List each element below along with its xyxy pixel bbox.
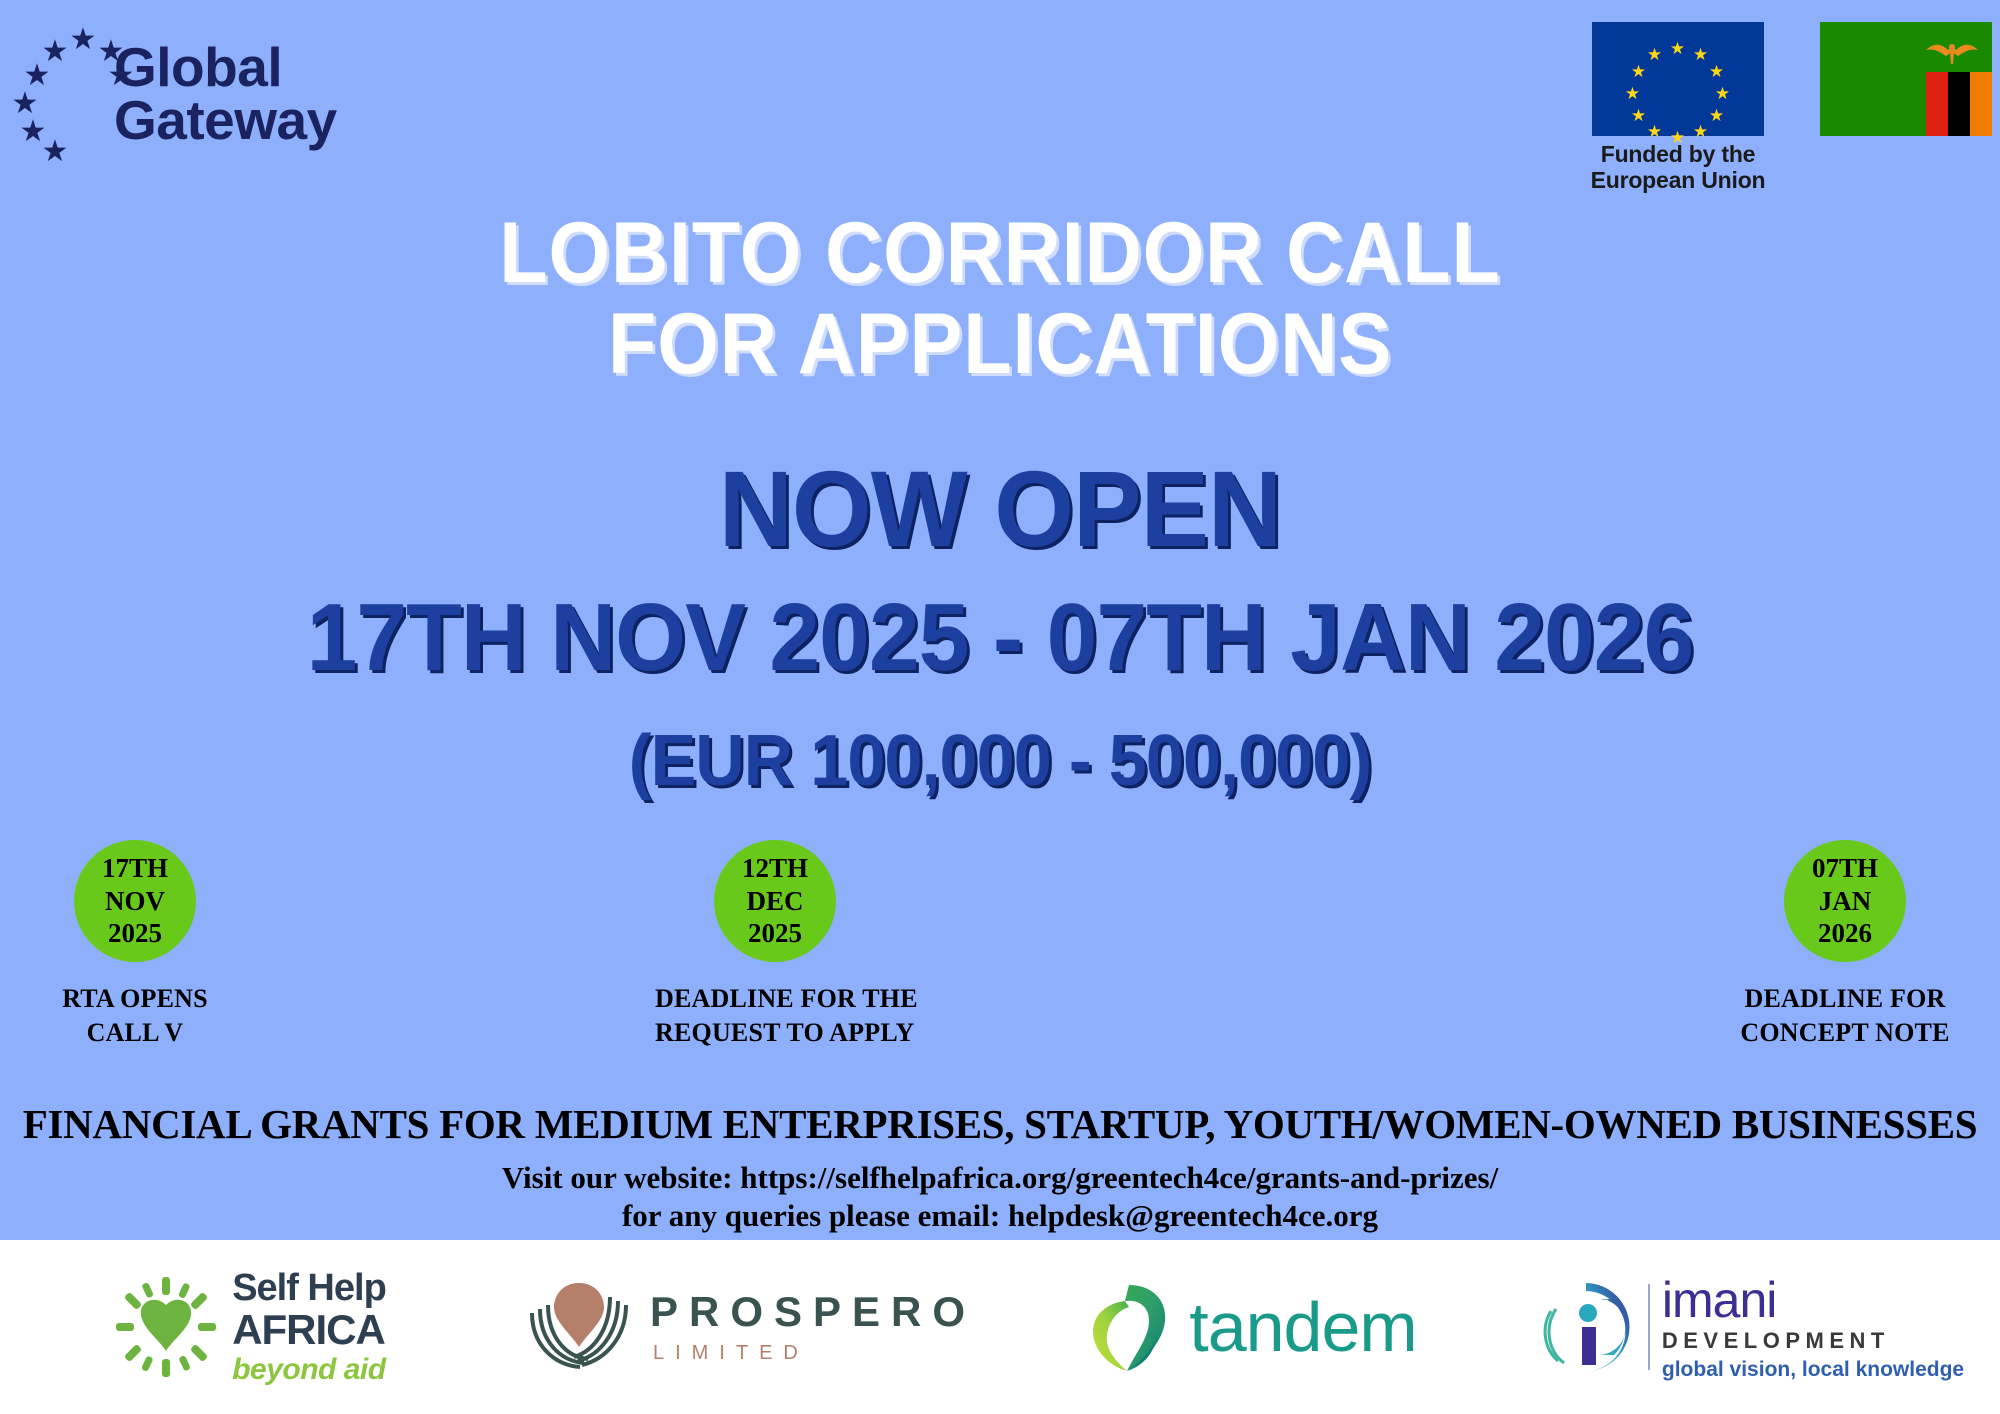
gg-line1: Global — [114, 41, 337, 94]
timeline-node-1-date: 17TH NOV 2025 — [74, 840, 196, 962]
node2-year: 2025 — [748, 917, 802, 950]
sha-line1: Self Help — [232, 1269, 386, 1307]
timeline-node-3: 07TH JAN 2026 DEADLINE FOR CONCEPT NOTE — [1725, 840, 1965, 1050]
node3-label-line1: DEADLINE FOR — [1725, 982, 1965, 1016]
eu-caption-line2: European Union — [1588, 168, 1768, 194]
node3-label-line2: CONCEPT NOTE — [1725, 1016, 1965, 1050]
global-gateway-wordmark: Global Gateway — [114, 41, 337, 148]
european-union-flag-icon: ★ ★ ★ ★ ★ ★ ★ ★ ★ ★ ★ ★ — [1592, 22, 1764, 136]
sha-tagline: beyond aid — [232, 1355, 386, 1385]
timeline: 17TH NOV 2025 RTA OPENS CALL V 12TH DEC … — [0, 840, 2000, 1090]
imani-line1: imani — [1662, 1275, 1964, 1325]
grants-description: FINANCIAL GRANTS FOR MEDIUM ENTERPRISES,… — [0, 1100, 2000, 1148]
timeline-node-1-label: RTA OPENS CALL V — [15, 982, 255, 1050]
website-link[interactable]: Visit our website: https://selfhelpafric… — [0, 1160, 2000, 1196]
partner-logo-strip: Self Help AFRICA beyond aid — [0, 1240, 2000, 1414]
node3-day: 07TH — [1812, 852, 1878, 885]
node2-month: DEC — [746, 885, 803, 918]
imani-divider — [1648, 1284, 1650, 1370]
node2-day: 12TH — [742, 852, 808, 885]
node1-month: NOV — [105, 885, 165, 918]
zambia-eagle-icon — [1924, 38, 1980, 70]
prospero-line2: LIMITED — [653, 1343, 976, 1363]
zambia-flag-icon — [1820, 22, 1992, 136]
headline-line1: LOBITO CORRIDOR CALL — [80, 208, 1920, 299]
logo-self-help-africa: Self Help AFRICA beyond aid — [0, 1240, 500, 1414]
imani-tagline: global vision, local knowledge — [1662, 1359, 1964, 1380]
status-now-open: NOW OPEN — [50, 455, 1950, 563]
tandem-ribbon-loop-icon — [1083, 1279, 1175, 1375]
status-date-range: 17TH NOV 2025 - 07TH JAN 2026 — [50, 590, 1950, 686]
prospero-line1: PROSPERO — [650, 1291, 976, 1333]
gg-line2: Gateway — [114, 94, 337, 147]
eu-funding-caption: Funded by the European Union — [1588, 142, 1768, 194]
page-title: LOBITO CORRIDOR CALL FOR APPLICATIONS — [80, 208, 1920, 390]
sha-sunburst-heart-icon — [114, 1275, 218, 1379]
status-grant-amount: (EUR 100,000 - 500,000) — [50, 725, 1950, 797]
node1-label-line1: RTA OPENS — [15, 982, 255, 1016]
prospero-nest-pin-icon — [524, 1275, 634, 1379]
logo-prospero-limited: PROSPERO LIMITED — [500, 1240, 1000, 1414]
timeline-node-3-label: DEADLINE FOR CONCEPT NOTE — [1725, 982, 1965, 1050]
timeline-node-2: 12TH DEC 2025 DEADLINE FOR THE REQUEST T… — [655, 840, 895, 1050]
timeline-node-2-label: DEADLINE FOR THE REQUEST TO APPLY — [655, 982, 895, 1050]
poster-canvas: ★ ★ ★ ★ ★ ★ ★ ★ Global Gateway ★ ★ ★ ★ ★… — [0, 0, 2000, 1414]
global-gateway-logo: ★ ★ ★ ★ ★ ★ ★ ★ Global Gateway — [18, 14, 378, 174]
node1-year: 2025 — [108, 917, 162, 950]
node3-month: JAN — [1819, 885, 1872, 918]
node2-label-line2: REQUEST TO APPLY — [655, 1016, 895, 1050]
imani-circle-i-icon — [1536, 1277, 1636, 1377]
node3-year: 2026 — [1818, 917, 1872, 950]
logo-tandem: tandem — [1000, 1240, 1500, 1414]
timeline-node-2-date: 12TH DEC 2025 — [714, 840, 836, 962]
timeline-node-1: 17TH NOV 2025 RTA OPENS CALL V — [15, 840, 255, 1050]
email-link[interactable]: for any queries please email: helpdesk@g… — [0, 1198, 2000, 1234]
sha-line2: AFRICA — [232, 1309, 386, 1351]
node1-label-line2: CALL V — [15, 1016, 255, 1050]
logo-imani-development: imani DEVELOPMENT global vision, local k… — [1500, 1240, 2000, 1414]
timeline-node-3-date: 07TH JAN 2026 — [1784, 840, 1906, 962]
tandem-wordmark: tandem — [1189, 1292, 1416, 1362]
imani-line2: DEVELOPMENT — [1662, 1330, 1964, 1352]
headline-line2: FOR APPLICATIONS — [80, 299, 1920, 390]
node1-day: 17TH — [102, 852, 168, 885]
eu-stars-arc-icon: ★ ★ ★ ★ ★ ★ ★ ★ — [18, 19, 118, 169]
eu-funding-block: ★ ★ ★ ★ ★ ★ ★ ★ ★ ★ ★ ★ Funded by the Eu… — [1588, 22, 1768, 194]
node2-label-line1: DEADLINE FOR THE — [655, 982, 895, 1016]
zambia-stripes — [1926, 72, 1992, 136]
